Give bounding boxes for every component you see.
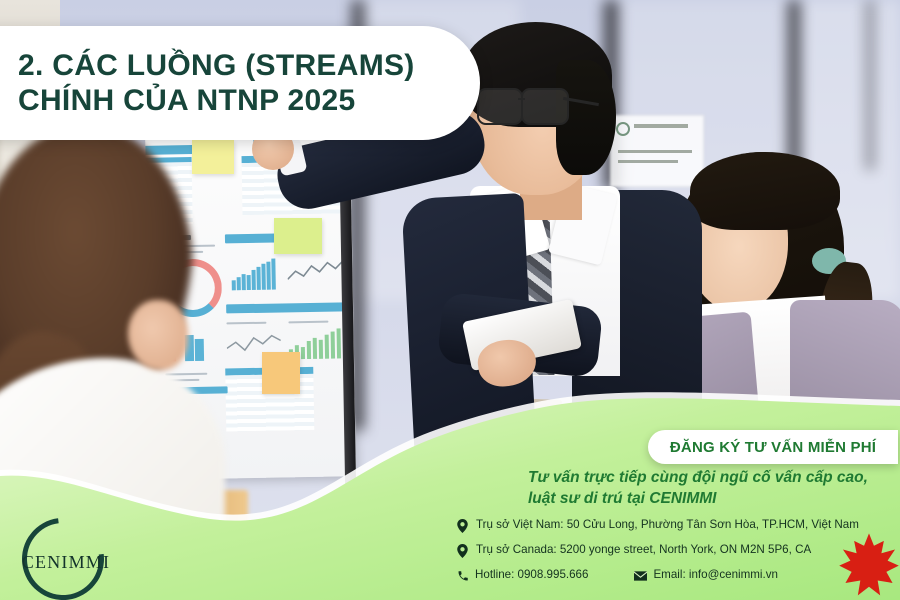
sticky-note xyxy=(262,352,300,394)
tagline-line-1: Tư vấn trực tiếp cùng đội ngũ cố vấn cấp… xyxy=(528,468,900,489)
hand xyxy=(128,300,188,370)
window-mullion xyxy=(866,0,874,170)
envelope-icon xyxy=(634,568,647,583)
location-pin-icon xyxy=(456,518,469,533)
contact-email-group[interactable]: Email: info@cenimmi.vn xyxy=(634,568,778,583)
chart-label xyxy=(288,321,328,324)
logo-text: CENIMMI xyxy=(10,552,122,573)
cta-badge[interactable]: ĐĂNG KÝ TƯ VẤN MIỄN PHÍ xyxy=(648,430,898,464)
window-mullion xyxy=(788,0,800,180)
title-banner: 2. CÁC LUỒNG (STREAMS) CHÍNH CỦA NTNP 20… xyxy=(0,26,480,140)
eyeglasses-icon xyxy=(477,88,573,122)
contact-office-vn: Trụ sở Việt Nam: 50 Cửu Long, Phường Tân… xyxy=(476,519,859,532)
sticky-note xyxy=(192,140,234,174)
title-line-1: 2. CÁC LUỒNG (STREAMS) xyxy=(18,48,480,83)
contact-row-vietnam: Trụ sở Việt Nam: 50 Cửu Long, Phường Tân… xyxy=(456,518,900,533)
chart-title-bar xyxy=(145,145,194,155)
contact-hotline-group[interactable]: Hotline: 0908.995.666 xyxy=(456,568,588,583)
contact-row-hotline-email: Hotline: 0908.995.666 Email: info@cenimm… xyxy=(456,568,900,583)
wall-sign-logo-icon xyxy=(616,122,630,136)
chart-title-bar xyxy=(226,302,346,313)
promo-poster: 2. CÁC LUỒNG (STREAMS) CHÍNH CỦA NTNP 20… xyxy=(0,0,900,600)
tagline: Tư vấn trực tiếp cùng đội ngũ cố vấn cấp… xyxy=(528,468,900,510)
flipchart-foot xyxy=(338,488,360,514)
contact-block: Trụ sở Việt Nam: 50 Cửu Long, Phường Tân… xyxy=(456,518,900,583)
contact-row-canada: Trụ sở Canada: 5200 yonge street, North … xyxy=(456,543,900,558)
contact-hotline: Hotline: 0908.995.666 xyxy=(475,569,588,582)
contact-office-ca: Trụ sở Canada: 5200 yonge street, North … xyxy=(476,544,811,557)
sticky-note xyxy=(274,218,322,254)
logo-ring-icon xyxy=(5,501,120,600)
brand-logo[interactable]: CENIMMI xyxy=(10,516,122,594)
chart-label xyxy=(226,322,266,325)
line-chart xyxy=(287,256,344,287)
person-right-woman-fringe xyxy=(690,152,840,230)
bar-chart-group xyxy=(231,257,282,290)
tagline-line-2: luật sư di trú tại CENIMMI xyxy=(528,489,900,510)
wall-sign-line xyxy=(618,160,678,163)
location-pin-icon xyxy=(456,543,469,558)
phone-icon xyxy=(456,568,469,583)
cta-badge-label: ĐĂNG KÝ TƯ VẤN MIỄN PHÍ xyxy=(670,439,876,456)
contact-email: Email: info@cenimmi.vn xyxy=(653,569,778,582)
wall-sign-line xyxy=(634,124,688,128)
title-line-2: CHÍNH CỦA NTNP 2025 xyxy=(18,83,480,118)
wall-sign-line xyxy=(618,150,692,153)
